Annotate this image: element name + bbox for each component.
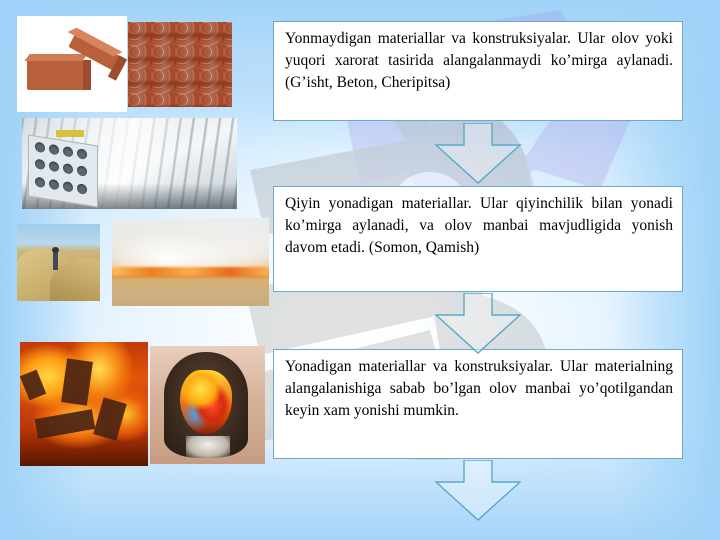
straw-stack-photo: [17, 224, 100, 301]
concrete-slab-photo: [22, 118, 237, 209]
barrel-fire-photo: [150, 346, 265, 464]
category-textbox-combustible: Yonadigan materiallar va konstruksiyalar…: [273, 349, 683, 459]
slide-canvas: Yonmaydigan materiallar va konstruksiyal…: [0, 0, 720, 540]
down-arrow-1: [434, 123, 522, 185]
field-fire-photo: [112, 218, 269, 306]
roof-tile-photo: [128, 22, 232, 107]
wood-fire-photo: [20, 342, 148, 466]
category-textbox-hard-to-burn: Qiyin yonadigan materiallar. Ular qiyinc…: [273, 186, 683, 292]
down-arrow-2: [434, 293, 522, 355]
category-textbox-noncombustible: Yonmaydigan materiallar va konstruksiyal…: [273, 21, 683, 121]
brick-photo: [17, 16, 127, 112]
down-arrow-3: [434, 460, 522, 522]
